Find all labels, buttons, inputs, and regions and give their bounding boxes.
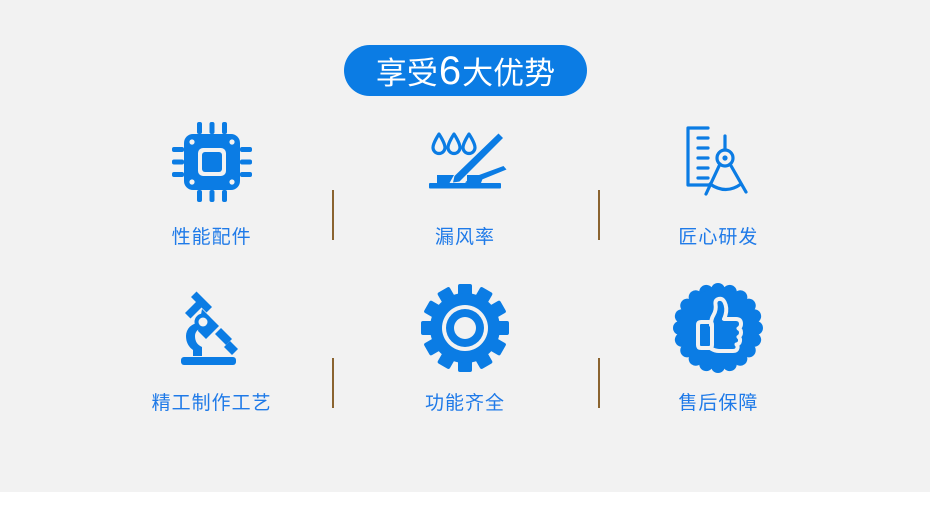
header-badge: 享受6大优势 [344, 45, 587, 96]
microscope-icon [157, 278, 267, 378]
header-number: 6 [439, 51, 461, 91]
promo-banner: 享受6大优势 [0, 0, 930, 519]
water-drops-leakage-icon [410, 112, 520, 212]
feature-item: 功能齐全 [338, 278, 591, 444]
cpu-chip-icon [157, 112, 267, 212]
feature-label: 匠心研发 [678, 228, 758, 247]
feature-label: 售后保障 [678, 394, 758, 413]
feature-label: 漏风率 [435, 228, 495, 247]
feature-item: 精工制作工艺 [85, 278, 338, 444]
feature-item: 匠心研发 [592, 112, 845, 278]
header-title: 享受6大优势 [376, 51, 555, 91]
thumbs-up-badge-icon [663, 278, 773, 378]
feature-label: 精工制作工艺 [152, 394, 272, 413]
feature-label: 功能齐全 [425, 394, 505, 413]
header-suffix: 大优势 [462, 58, 555, 89]
gear-icon [410, 278, 520, 378]
feature-item: 性能配件 [85, 112, 338, 278]
feature-label: 性能配件 [172, 228, 252, 247]
ruler-compass-icon [663, 112, 773, 212]
feature-grid: 性能配件 [85, 112, 845, 452]
header-prefix: 享受 [376, 58, 438, 89]
feature-item: 售后保障 [592, 278, 845, 444]
feature-item: 漏风率 [338, 112, 591, 278]
